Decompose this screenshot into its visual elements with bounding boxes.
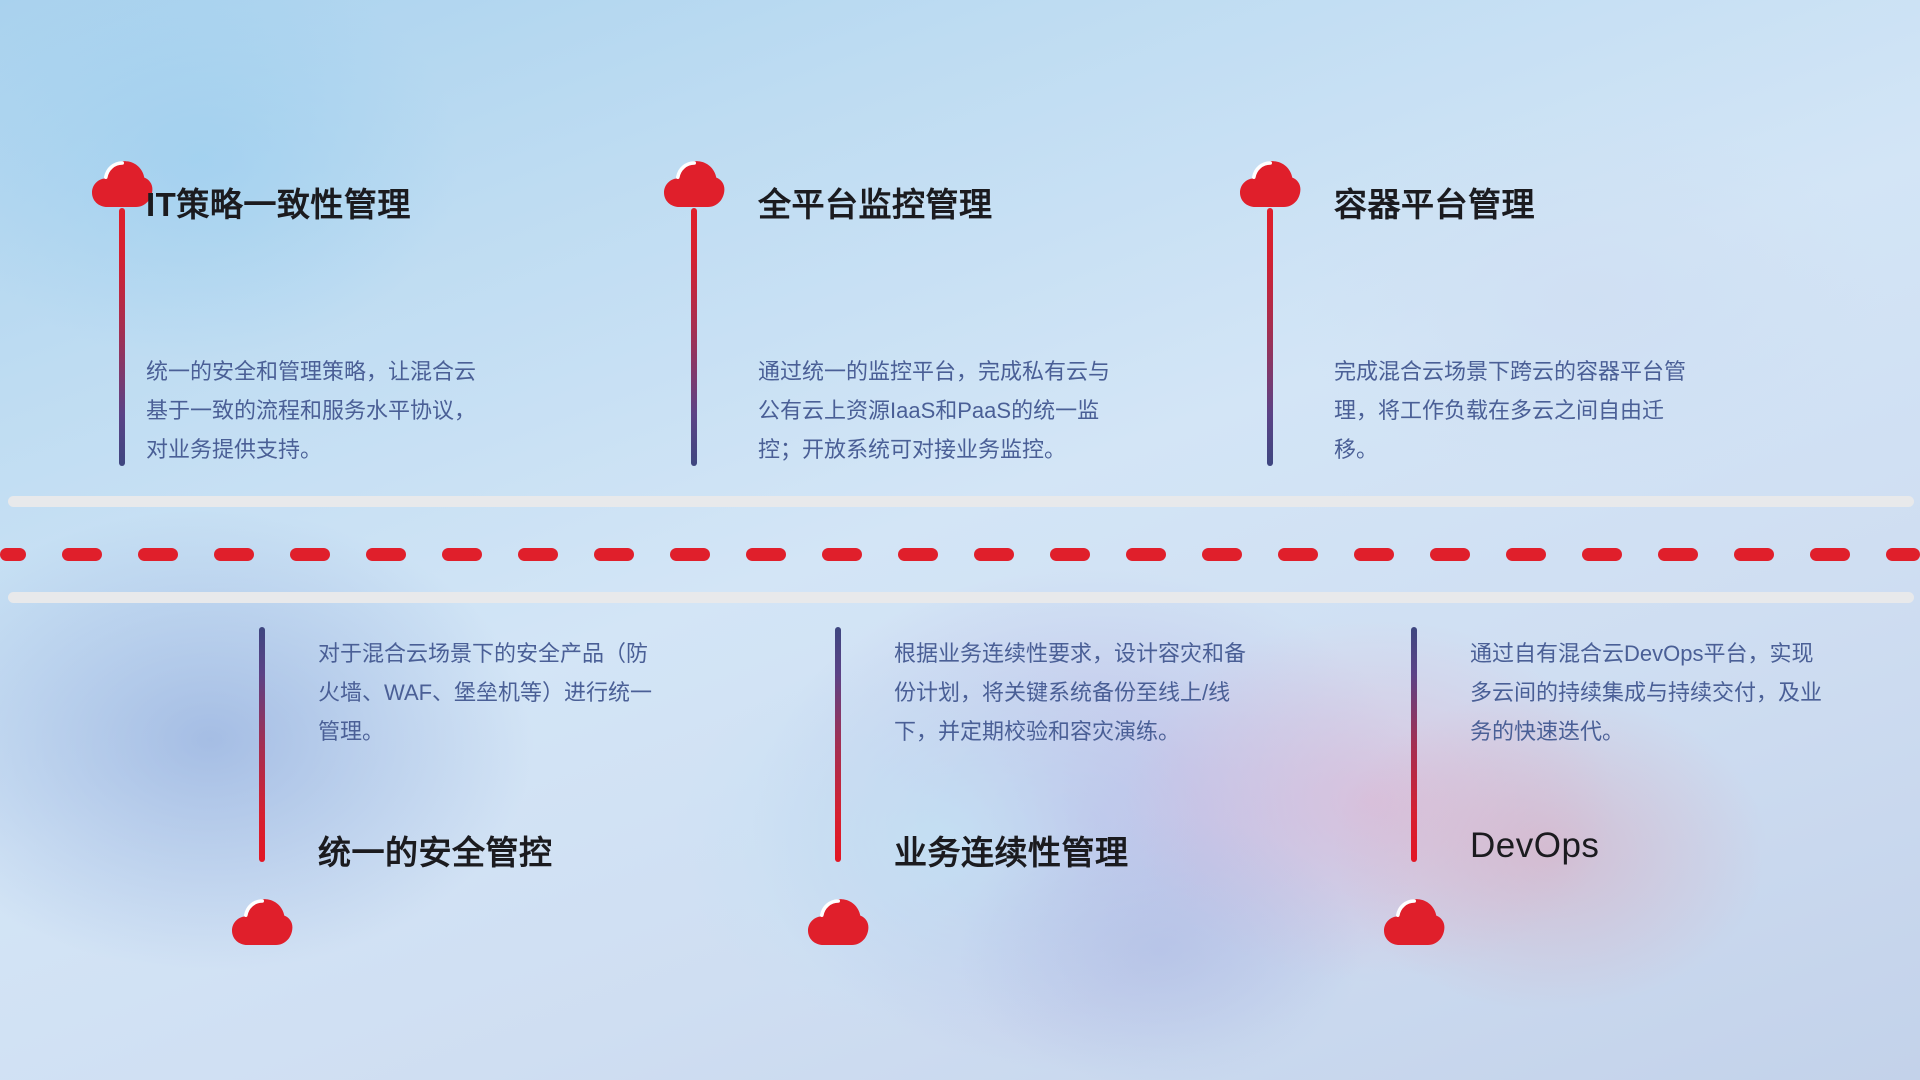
top-body-1: 统一的安全和管理策略，让混合云基于一致的流程和服务水平协议，对业务提供支持。 <box>146 352 486 469</box>
road-dash <box>0 548 26 561</box>
connector-line <box>119 208 125 466</box>
bottom-heading-2: 业务连续性管理 <box>894 826 1129 874</box>
top-body-2: 通过统一的监控平台，完成私有云与公有云上资源IaaS和PaaS的统一监控；开放系… <box>758 352 1118 469</box>
top-heading-2: 全平台监控管理 <box>758 178 993 226</box>
bottom-body-1: 对于混合云场景下的安全产品（防火墙、WAF、堡垒机等）进行统一管理。 <box>318 634 658 751</box>
background-blob <box>880 760 1440 1080</box>
road-dash <box>822 548 862 561</box>
road-dash <box>594 548 634 561</box>
road-dash <box>518 548 558 561</box>
top-heading-1: IT策略一致性管理 <box>146 178 411 226</box>
road-dash <box>62 548 102 561</box>
road-dash <box>214 548 254 561</box>
top-body-3: 完成混合云场景下跨云的容器平台管理，将工作负载在多云之间自由迁移。 <box>1334 352 1694 469</box>
background-blob <box>1020 540 1720 1060</box>
background-blob <box>620 470 1560 1080</box>
road-dash <box>1126 548 1166 561</box>
road-dash <box>1658 548 1698 561</box>
road-dash <box>1734 548 1774 561</box>
cloud-icon <box>663 160 725 208</box>
road-dash <box>1430 548 1470 561</box>
connector-line <box>835 627 841 862</box>
background-blob <box>1180 40 1920 560</box>
connector-line <box>259 627 265 862</box>
bottom-body-3: 通过自有混合云DevOps平台，实现多云间的持续集成与持续交付，及业务的快速迭代… <box>1470 634 1830 751</box>
road-dash <box>898 548 938 561</box>
road-dash <box>1886 548 1920 561</box>
top-heading-3: 容器平台管理 <box>1334 178 1535 226</box>
road-dash <box>1050 548 1090 561</box>
bottom-body-2: 根据业务连续性要求，设计容灾和备份计划，将关键系统备份至线上/线下，并定期校验和… <box>894 634 1254 751</box>
road-dash <box>670 548 710 561</box>
bottom-heading-1: 统一的安全管控 <box>318 826 553 874</box>
connector-line <box>1267 208 1273 466</box>
road-dash <box>290 548 330 561</box>
cloud-icon <box>807 898 869 946</box>
cloud-icon <box>1383 898 1445 946</box>
cloud-icon <box>1239 160 1301 208</box>
cloud-icon <box>231 898 293 946</box>
road-dash <box>1278 548 1318 561</box>
road-dash <box>366 548 406 561</box>
connector-line <box>691 208 697 466</box>
road-dash-line <box>0 548 1920 561</box>
road-dash <box>138 548 178 561</box>
road-dash <box>746 548 786 561</box>
road-dash <box>1202 548 1242 561</box>
road-dash <box>1354 548 1394 561</box>
road-dash <box>1506 548 1546 561</box>
road-edge-top <box>8 496 1914 507</box>
cloud-icon <box>91 160 153 208</box>
road-dash <box>1810 548 1850 561</box>
bottom-heading-3: DevOps <box>1470 826 1599 866</box>
road-dash <box>442 548 482 561</box>
infographic-canvas: IT策略一致性管理 统一的安全和管理策略，让混合云基于一致的流程和服务水平协议，… <box>0 0 1920 1080</box>
road-dash <box>1582 548 1622 561</box>
road-edge-bottom <box>8 592 1914 603</box>
connector-line <box>1411 627 1417 862</box>
road-dash <box>974 548 1014 561</box>
